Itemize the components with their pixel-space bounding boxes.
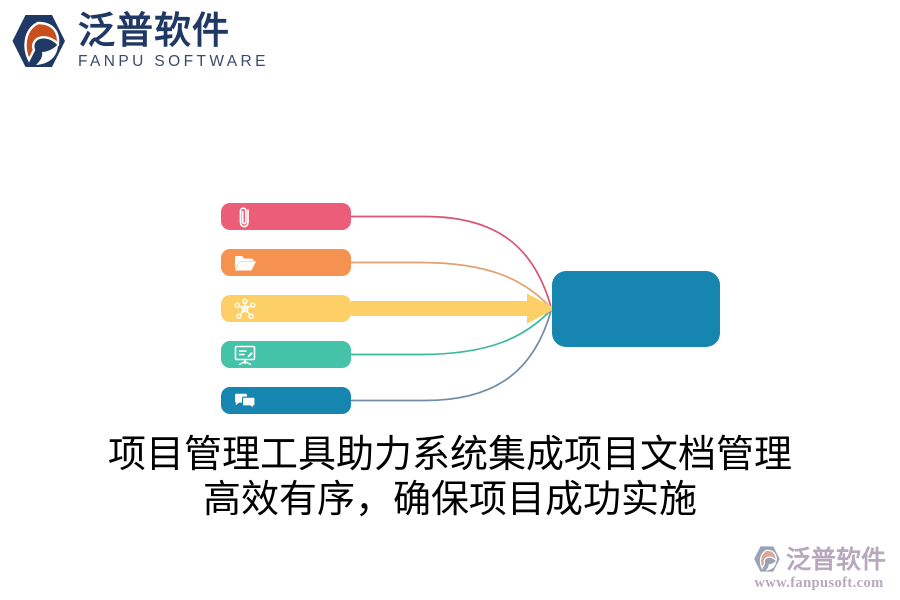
node-bar-presentation[interactable]: [221, 341, 351, 368]
emphasis-arrow-icon: [351, 294, 556, 324]
watermark-logo-row: 泛普软件: [752, 544, 886, 574]
caption-line-2: 高效有序，确保项目成功实施: [0, 477, 900, 522]
hub-node[interactable]: [552, 271, 720, 347]
node-bar-chat[interactable]: [221, 387, 351, 414]
caption: 项目管理工具助力系统集成项目文档管理 高效有序，确保项目成功实施: [0, 432, 900, 522]
folder-icon: [232, 250, 258, 276]
watermark-name-cn: 泛普软件: [786, 547, 886, 572]
node-bar-attachment[interactable]: [221, 203, 351, 230]
node-bar-network[interactable]: [221, 295, 351, 322]
paperclip-icon: [232, 204, 258, 230]
watermark: 泛普软件 www.fanpusoft.com: [752, 544, 886, 592]
diagram: [0, 0, 900, 430]
chat-bubbles-icon: [232, 388, 258, 414]
node-bar-folder[interactable]: [221, 249, 351, 276]
presentation-board-icon: [232, 342, 258, 368]
network-hub-icon: [232, 296, 258, 322]
caption-line-1: 项目管理工具助力系统集成项目文档管理: [0, 432, 900, 477]
fanpu-hexagon-logo-icon: [752, 544, 782, 574]
watermark-url: www.fanpusoft.com: [754, 575, 883, 592]
